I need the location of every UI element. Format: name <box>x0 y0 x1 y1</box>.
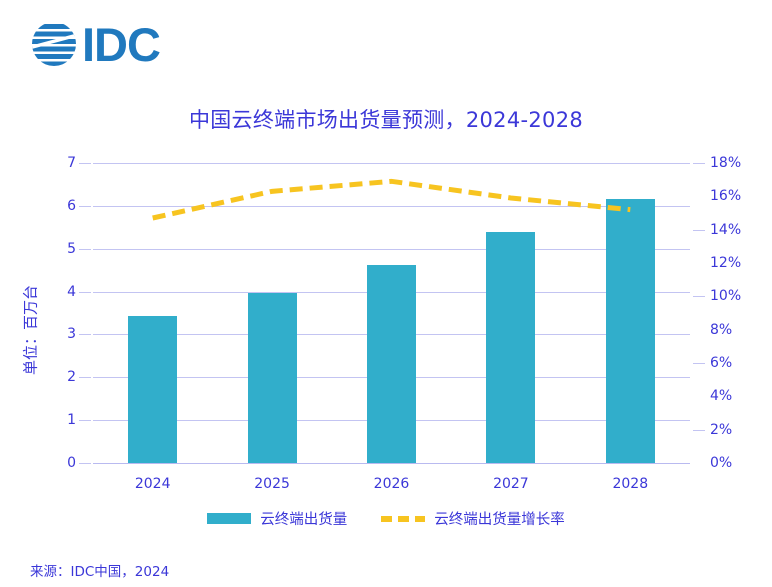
ytick-right-14: 14% <box>710 222 741 238</box>
gridline-6 <box>93 206 690 207</box>
ytick-right-10: 10% <box>710 288 741 304</box>
bar-2027[interactable] <box>486 232 535 463</box>
ytick-dash-right-10 <box>693 296 705 297</box>
idc-globe-icon <box>28 18 80 70</box>
ytick-right-16: 16% <box>710 188 741 204</box>
legend-item-growth-rate[interactable]: 云终端出货量增长率 <box>381 508 565 529</box>
xaxis-label-2025: 2025 <box>254 476 290 492</box>
ytick-dash-left-5 <box>79 249 91 250</box>
ytick-right-12: 12% <box>710 255 741 271</box>
ytick-right-6: 6% <box>710 355 732 371</box>
source-note: 来源：IDC中国，2024 <box>30 560 169 580</box>
legend-label-growth-rate: 云终端出货量增长率 <box>434 508 565 529</box>
ytick-dash-right-14 <box>693 230 705 231</box>
ytick-dash-left-3 <box>79 334 91 335</box>
xaxis-label-2024: 2024 <box>135 476 171 492</box>
ytick-left-7: 7 <box>67 155 76 171</box>
chart-canvas: 单位：百万台 7 6 5 4 3 2 1 0 18% 16% 14% 12% <box>0 140 772 490</box>
chart-title: 中国云终端市场出货量预测，2024-2028 <box>0 104 772 134</box>
ytick-left-6: 6 <box>67 198 76 214</box>
ytick-right-18: 18% <box>710 155 741 171</box>
ytick-dash-left-1 <box>79 420 91 421</box>
ytick-left-2: 2 <box>67 369 76 385</box>
xaxis-label-2027: 2027 <box>493 476 529 492</box>
xaxis-label-2026: 2026 <box>374 476 410 492</box>
bar-2028[interactable] <box>606 199 655 463</box>
idc-logo: IDC <box>28 18 160 70</box>
y-axis-left-label: 单位：百万台 <box>20 285 41 375</box>
bar-2025[interactable] <box>248 293 297 463</box>
ytick-left-4: 4 <box>67 284 76 300</box>
ytick-left-5: 5 <box>67 241 76 257</box>
chart-legend: 云终端出货量 云终端出货量增长率 <box>0 508 772 529</box>
ytick-dash-left-6 <box>79 206 91 207</box>
idc-wordmark: IDC <box>82 21 160 68</box>
ytick-dash-left-4 <box>79 292 91 293</box>
xaxis-label-2028: 2028 <box>612 476 648 492</box>
ytick-dash-right-6 <box>693 363 705 364</box>
legend-item-shipments[interactable]: 云终端出货量 <box>207 508 347 529</box>
ytick-dash-left-0 <box>79 463 91 464</box>
gridline-0 <box>93 463 690 464</box>
ytick-left-0: 0 <box>67 455 76 471</box>
legend-label-shipments: 云终端出货量 <box>260 508 347 529</box>
bar-2026[interactable] <box>367 265 416 463</box>
ytick-dash-left-7 <box>79 163 91 164</box>
ytick-dash-left-2 <box>79 377 91 378</box>
ytick-right-0: 0% <box>710 455 732 471</box>
ytick-left-1: 1 <box>67 412 76 428</box>
legend-dashed-line-swatch-icon <box>381 516 425 522</box>
ytick-right-2: 2% <box>710 422 732 438</box>
ytick-dash-right-2 <box>693 430 705 431</box>
ytick-right-4: 4% <box>710 388 732 404</box>
bar-2024[interactable] <box>128 316 177 463</box>
ytick-dash-right-18 <box>693 163 705 164</box>
gridline-5 <box>93 249 690 250</box>
plot-area: 7 6 5 4 3 2 1 0 18% 16% 14% 12% 10% 8% 6… <box>93 163 690 463</box>
gridline-7 <box>93 163 690 164</box>
legend-bar-swatch-icon <box>207 513 251 524</box>
ytick-left-3: 3 <box>67 326 76 342</box>
ytick-right-8: 8% <box>710 322 732 338</box>
